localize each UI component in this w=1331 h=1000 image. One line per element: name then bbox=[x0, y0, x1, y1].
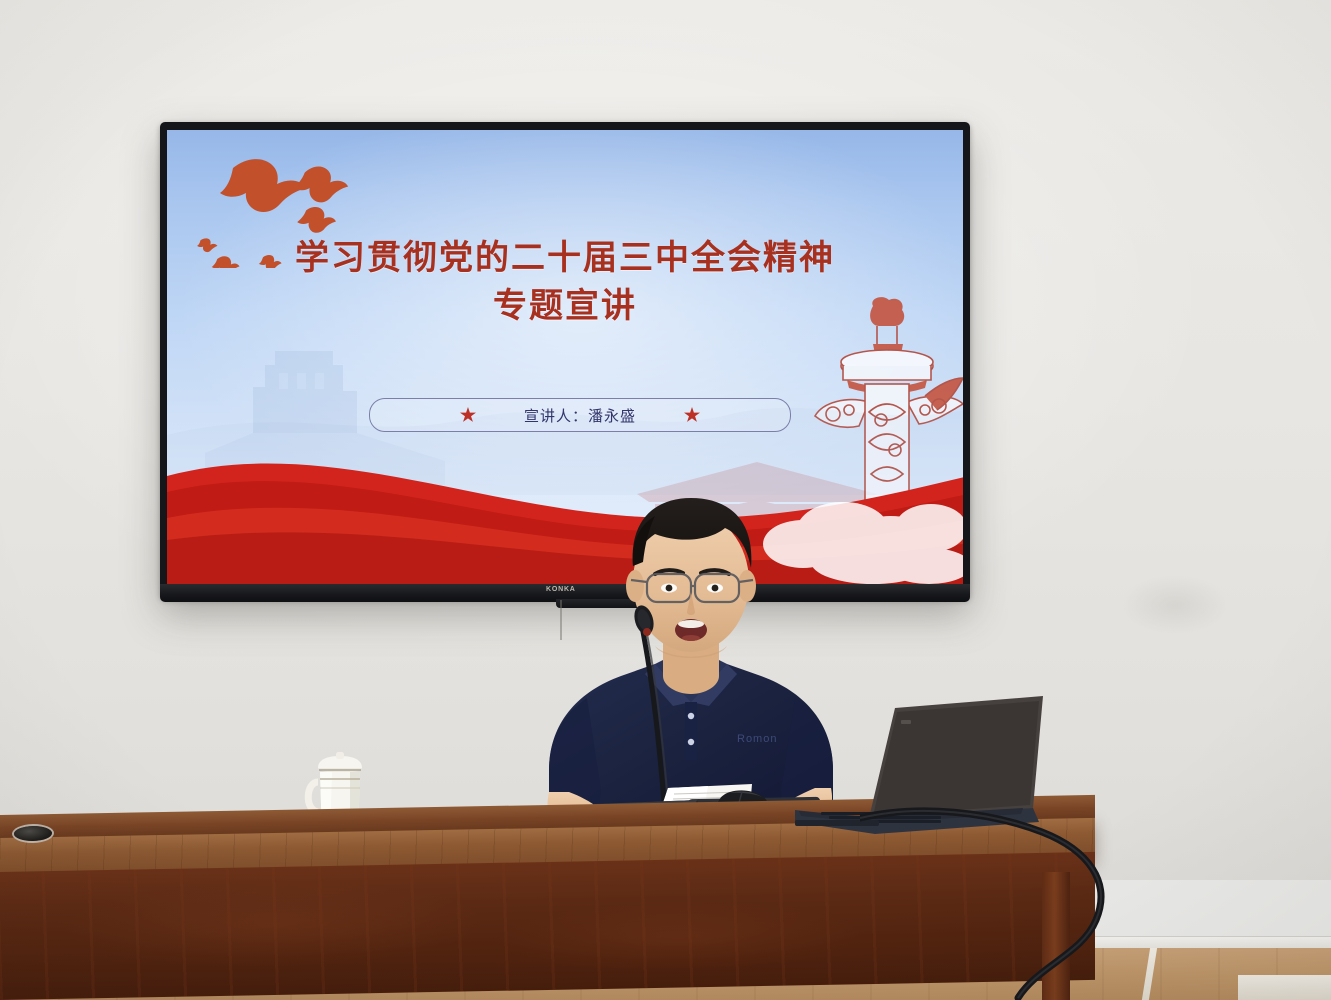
slide-title-line2: 专题宣讲 bbox=[167, 282, 963, 330]
svg-text:Romon: Romon bbox=[737, 733, 777, 745]
wall-smudge bbox=[1120, 575, 1230, 635]
floor-inlay-strip bbox=[1238, 975, 1331, 1000]
slide-title: 学习贯彻党的二十届三中全会精神 专题宣讲 bbox=[167, 234, 963, 331]
presenter-label: 宣讲人：潘永盛 bbox=[524, 405, 636, 426]
red-star-icon bbox=[460, 407, 476, 423]
presenter-name-box: 宣讲人：潘永盛 bbox=[369, 398, 791, 432]
slide-title-line1: 学习贯彻党的二十届三中全会精神 bbox=[295, 238, 835, 278]
conference-room-photo: 学习贯彻党的二十届三中全会精神 专题宣讲 宣讲人：潘永盛 KONKA bbox=[0, 0, 1331, 1000]
power-cable bbox=[860, 770, 1200, 1000]
red-star-icon bbox=[684, 407, 700, 423]
microphone-gooseneck bbox=[630, 604, 690, 804]
